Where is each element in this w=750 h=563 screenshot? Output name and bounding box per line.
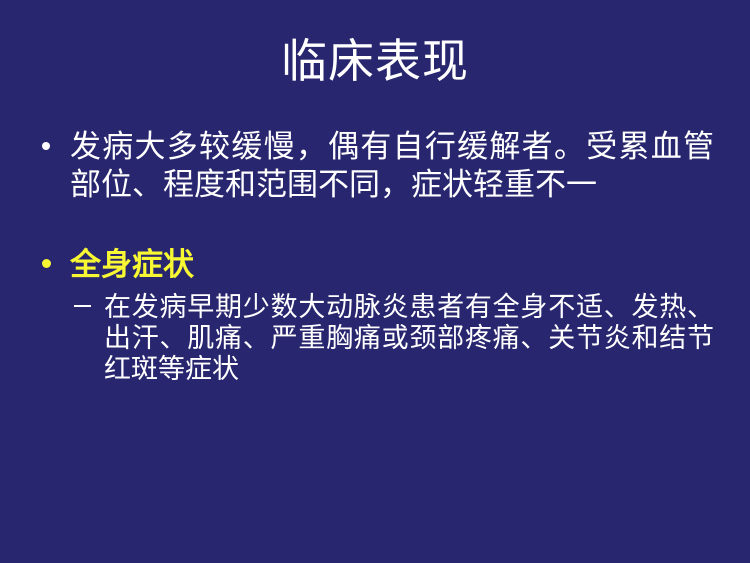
bullet-item-primary-1: 发病大多较缓慢，偶有自行缓解者。受累血管部位、程度和范围不同，症状轻重不一 [34,128,714,204]
bullet-item-secondary-1: 在发病早期少数大动脉炎患者有全身不适、发热、出汗、肌痛、严重胸痛或颈部疼痛、关节… [72,292,714,385]
dot-bullet-icon [42,128,64,166]
page-title: 临床表现 [0,33,750,89]
slide-body: 发病大多较缓慢，偶有自行缓解者。受累血管部位、程度和范围不同，症状轻重不一 全身… [34,128,714,385]
bullet-text: 在发病早期少数大动脉炎患者有全身不适、发热、出汗、肌痛、严重胸痛或颈部疼痛、关节… [104,292,714,385]
bullet-text: 发病大多较缓慢，偶有自行缓解者。受累血管部位、程度和范围不同，症状轻重不一 [70,129,714,203]
bullet-item-primary-2: 全身症状 [34,246,714,284]
bullet-text: 全身症状 [70,247,194,283]
dot-bullet-icon [42,246,64,284]
dash-bullet-icon [74,292,98,323]
spacer [34,204,714,246]
presentation-slide: 临床表现 发病大多较缓慢，偶有自行缓解者。受累血管部位、程度和范围不同，症状轻重… [0,0,750,563]
